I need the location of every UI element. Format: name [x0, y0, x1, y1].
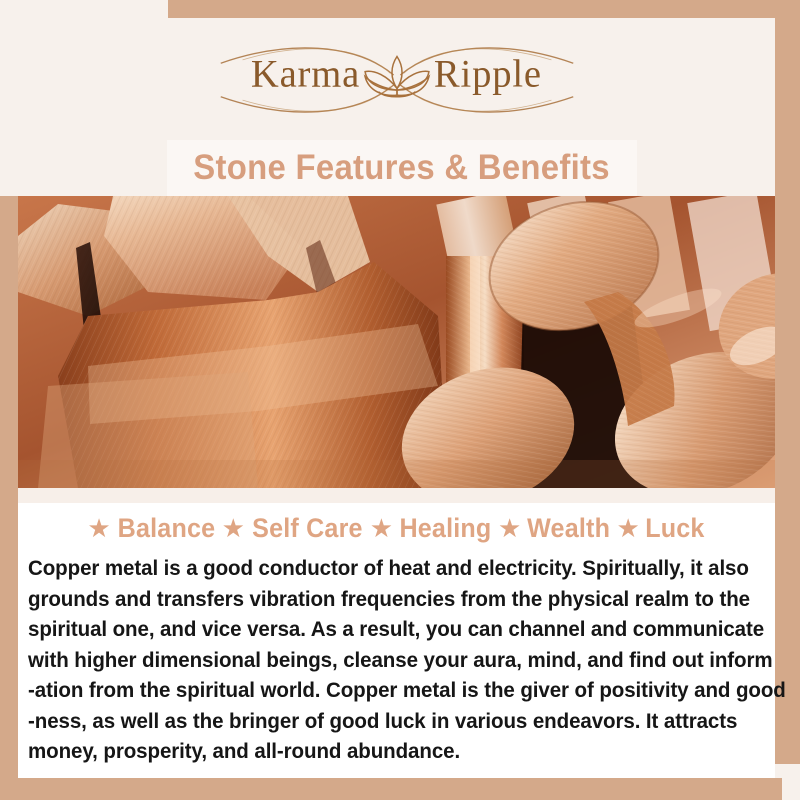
benefit-item-self-care: Self Care — [252, 513, 363, 544]
benefits-list: ★ Balance ★ Self Care ★ Healing ★ Wealth… — [18, 511, 775, 545]
copper-photo-art — [18, 196, 775, 488]
benefit-item-healing: Healing — [400, 513, 492, 544]
description-paragraph: Copper metal is a good conductor of heat… — [28, 553, 770, 767]
frame-top-bar — [168, 0, 800, 18]
star-icon: ★ — [498, 515, 521, 541]
star-icon: ★ — [370, 515, 393, 541]
description-line: with higher dimensional beings, cleanse … — [28, 645, 737, 676]
description-line: grounds and transfers vibration frequenc… — [28, 584, 737, 615]
benefit-item-wealth: Wealth — [527, 513, 610, 544]
star-icon: ★ — [617, 515, 640, 541]
brand-header: Karma Ripple — [18, 18, 775, 140]
frame-bottom-bar — [0, 778, 782, 800]
infographic-card: Karma Ripple Stone Features & Benefits — [0, 0, 800, 800]
description-line: Copper metal is a good conductor of heat… — [28, 553, 737, 584]
star-icon: ★ — [87, 515, 110, 541]
description-line: -ness, as well as the bringer of good lu… — [28, 706, 737, 737]
lotus-flourish-icon: Karma Ripple — [162, 38, 632, 122]
copper-bars-photo: Copper — [18, 196, 775, 488]
description-line: spiritual one, and vice versa. As a resu… — [28, 614, 737, 645]
frame-left-bar — [0, 196, 18, 800]
frame-right-bar — [775, 0, 800, 764]
description-line: -ation from the spiritual world. Copper … — [28, 675, 737, 706]
brand-name-left: Karma — [250, 54, 359, 96]
photo-divider-band — [18, 488, 775, 503]
page-title: Stone Features & Benefits — [194, 148, 611, 188]
star-icon: ★ — [222, 515, 245, 541]
description-line: money, prosperity, and all-round abundan… — [28, 736, 737, 767]
benefit-item-luck: Luck — [645, 513, 704, 544]
description-card: ★ Balance ★ Self Care ★ Healing ★ Wealth… — [18, 503, 775, 778]
brand-logo: Karma Ripple — [18, 32, 775, 128]
benefit-item-balance: Balance — [117, 513, 215, 544]
brand-name-right: Ripple — [433, 54, 541, 96]
section-title-panel: Stone Features & Benefits — [167, 140, 637, 196]
